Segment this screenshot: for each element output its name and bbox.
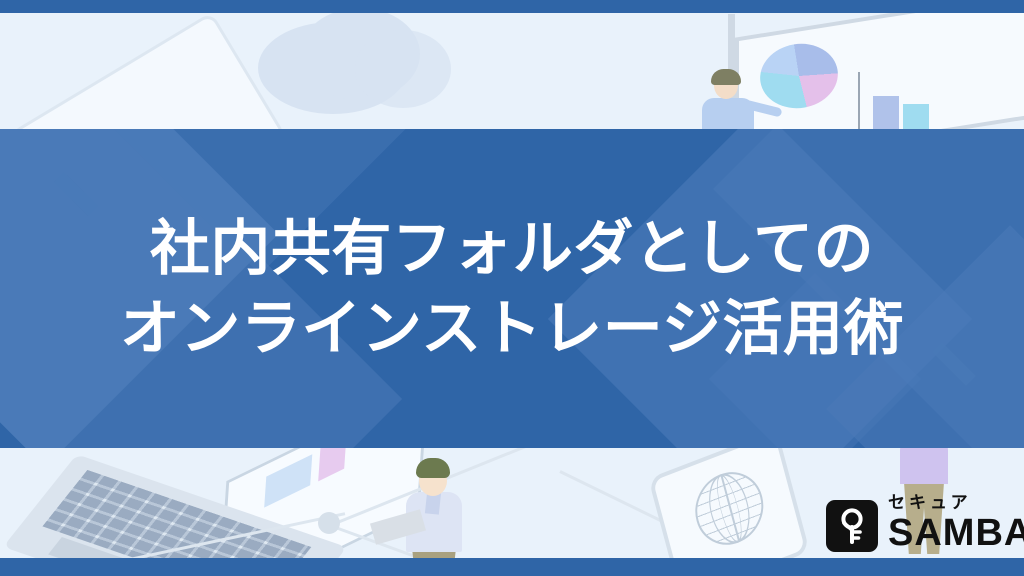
person-hair [711,69,741,85]
logo-word: SAMBA [888,514,1024,552]
cloud-icon [355,30,451,108]
bottom-accent-strip [0,558,1024,576]
key-icon [826,500,878,552]
logo-wordmark: セキュア SAMBA [888,494,1024,552]
slide-canvas: 社内共有フォルダとしての オンラインストレージ活用術 セキュア SAMBA [0,0,1024,576]
title-line-2: オンラインストレージ活用術 [120,289,904,369]
title-band: 社内共有フォルダとしての オンラインストレージ活用術 [0,129,1024,448]
slide-title: 社内共有フォルダとしての オンラインストレージ活用術 [0,129,1024,448]
smartphone-globe-icon [648,429,810,576]
brand-logo: セキュア SAMBA [826,494,1024,552]
bar-chart-icon [903,104,929,130]
bar-chart-icon [873,96,899,130]
person-hair [416,458,450,478]
document-thumb [264,454,312,507]
network-node [318,512,340,534]
top-accent-strip [0,0,1024,13]
title-line-1: 社内共有フォルダとしての [150,209,874,289]
logo-kana: セキュア [888,494,1024,511]
chart-axis [858,72,860,130]
